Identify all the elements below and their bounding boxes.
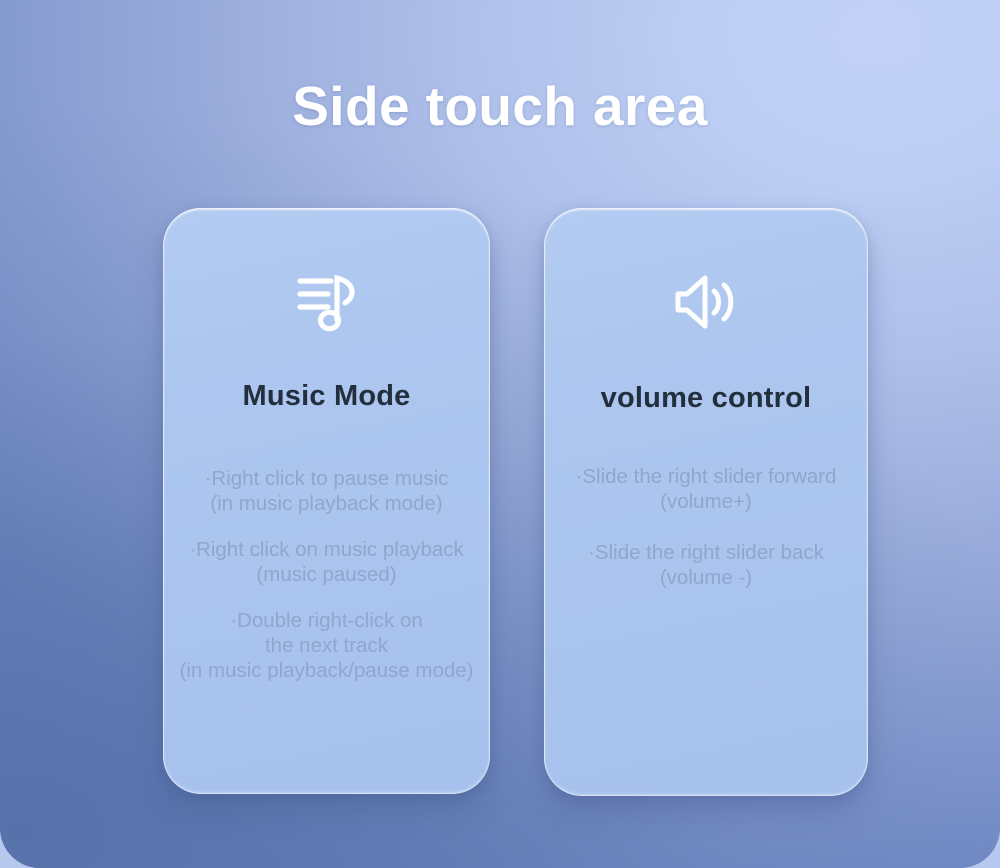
card-body-volume-control: ·Slide the right slider forward (volume+… bbox=[544, 464, 868, 616]
card-text-line: (in music playback/pause mode) bbox=[163, 658, 490, 683]
page-title: Side touch area bbox=[0, 74, 1000, 138]
card-text-line: ·Slide the right slider back bbox=[544, 540, 868, 565]
card-text-line: ·Right click to pause music bbox=[163, 466, 490, 491]
card-paragraph: ·Slide the right slider back (volume -) bbox=[544, 540, 868, 590]
card-volume-control[interactable]: volume control ·Slide the right slider f… bbox=[544, 208, 868, 796]
card-text-line: ·Right click on music playback bbox=[163, 537, 490, 562]
card-text-line: ·Double right-click on bbox=[163, 608, 490, 633]
card-paragraph: ·Slide the right slider forward (volume+… bbox=[544, 464, 868, 514]
card-paragraph: ·Right click on music playback (music pa… bbox=[163, 537, 490, 587]
card-text-line: (in music playback mode) bbox=[163, 491, 490, 516]
card-text-line: (volume+) bbox=[544, 489, 868, 514]
card-music-mode[interactable]: Music Mode ·Right click to pause music (… bbox=[163, 208, 490, 794]
card-group: Music Mode ·Right click to pause music (… bbox=[163, 208, 869, 796]
card-body-music-mode: ·Right click to pause music (in music pl… bbox=[163, 466, 490, 683]
card-paragraph: ·Double right-click on the next track (i… bbox=[163, 608, 490, 683]
card-text-line: (music paused) bbox=[163, 562, 490, 587]
card-text-line: (volume -) bbox=[544, 565, 868, 590]
screen-root: Side touch area Music Mode bbox=[0, 0, 1000, 868]
card-title-volume-control: volume control bbox=[544, 382, 868, 415]
card-text-line: the next track bbox=[163, 633, 490, 658]
speaker-volume-icon bbox=[544, 265, 868, 339]
card-text-line: ·Slide the right slider forward bbox=[544, 464, 868, 489]
card-paragraph: ·Right click to pause music (in music pl… bbox=[163, 466, 490, 516]
music-playlist-icon bbox=[163, 265, 490, 339]
card-title-music-mode: Music Mode bbox=[163, 380, 490, 413]
